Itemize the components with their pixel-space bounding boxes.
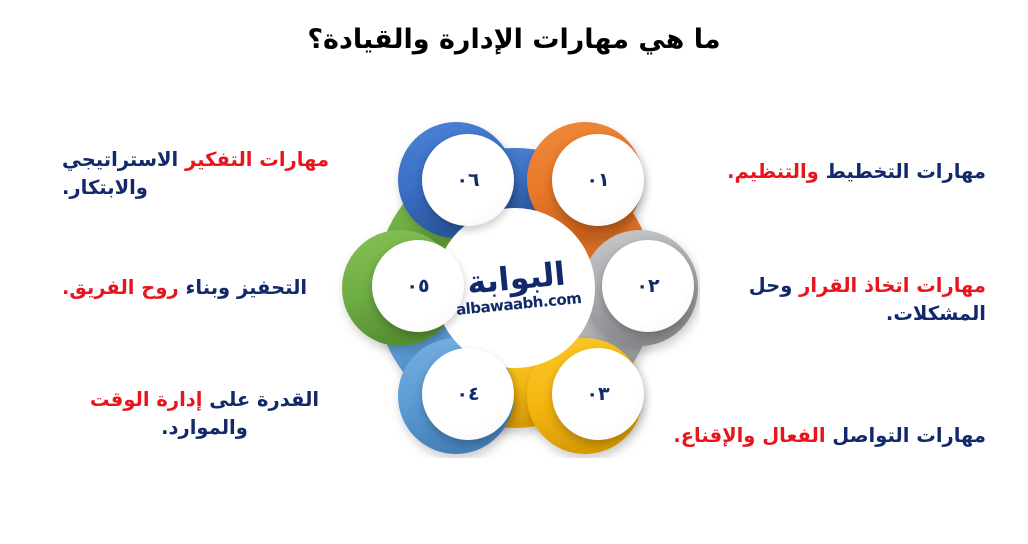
label-03: مهارات التواصل الفعال والإقناع. xyxy=(646,422,986,450)
page-title: ما هي مهارات الإدارة والقيادة؟ xyxy=(0,24,1028,56)
node-02-numeral: ٠٢ xyxy=(636,277,659,296)
label-segment-0: مهارات اتخاذ القرار xyxy=(792,274,986,297)
label-segment-1: روح الفريق. xyxy=(62,276,179,299)
label-05: التحفيز وبناء روح الفريق. xyxy=(62,274,352,302)
node-05-numeral: ٠٥ xyxy=(406,277,429,296)
label-04: القدرة على إدارة الوقت والموارد. xyxy=(62,386,347,443)
label-01: مهارات التخطيط والتنظيم. xyxy=(696,158,986,186)
label-segment-0: مهارات التواصل xyxy=(826,424,986,447)
label-segment-0: مهارات التخطيط xyxy=(819,160,986,183)
node-03-numeral: ٠٣ xyxy=(586,385,609,404)
node-02[interactable]: ٠٢ xyxy=(602,240,694,332)
label-segment-0: القدرة على xyxy=(202,388,319,411)
label-segment-2: والموارد. xyxy=(161,416,248,439)
node-04-numeral: ٠٤ xyxy=(456,385,479,404)
label-segment-1: والتنظيم. xyxy=(727,160,819,183)
infographic-canvas: ما هي مهارات الإدارة والقيادة؟ xyxy=(0,0,1028,544)
node-06[interactable]: ٠٦ xyxy=(422,134,514,226)
node-03[interactable]: ٠٣ xyxy=(552,348,644,440)
label-06: مهارات التفكير الاستراتيجي والابتكار. xyxy=(62,146,407,203)
label-segment-1: إدارة الوقت xyxy=(90,388,203,411)
label-segment-1: الاستراتيجي والابتكار. xyxy=(62,148,178,199)
label-segment-0: التحفيز وبناء xyxy=(179,276,307,299)
label-segment-0: مهارات التفكير xyxy=(178,148,329,171)
node-01-numeral: ٠١ xyxy=(586,171,609,190)
node-06-numeral: ٠٦ xyxy=(456,171,479,190)
label-02: مهارات اتخاذ القرار وحل المشكلات. xyxy=(711,272,986,329)
node-01[interactable]: ٠١ xyxy=(552,134,644,226)
label-segment-1: الفعال والإقناع. xyxy=(673,424,825,447)
brand-logo: البوابة albawaabh.com xyxy=(430,238,603,336)
node-04[interactable]: ٠٤ xyxy=(422,348,514,440)
